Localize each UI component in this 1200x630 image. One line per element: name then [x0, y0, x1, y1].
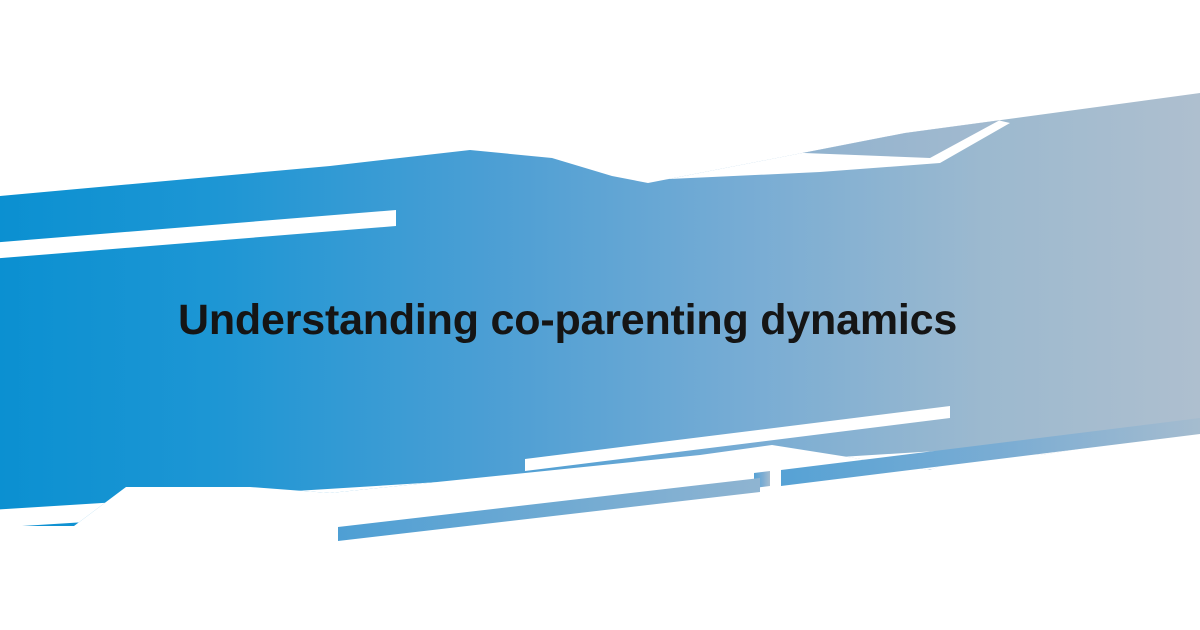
top-dash-2	[715, 140, 726, 156]
banner-canvas: Understanding co-parenting dynamics	[0, 0, 1200, 630]
banner-decorative-artwork	[0, 0, 1200, 630]
bottom-left-bar	[338, 478, 760, 541]
top-dash-3	[733, 139, 771, 154]
top-dash-1	[697, 141, 708, 157]
